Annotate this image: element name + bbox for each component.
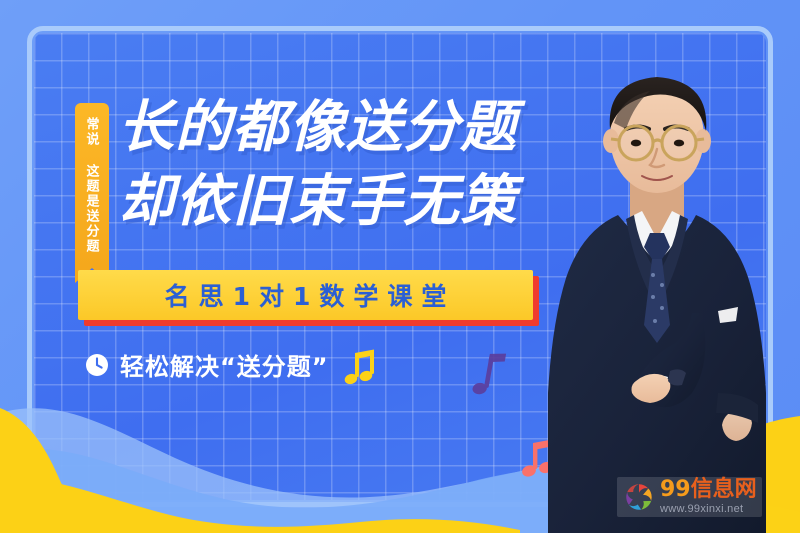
- watermark-name: 信息网: [691, 477, 757, 502]
- logo-icon: [622, 480, 656, 514]
- badge-label: 名思1对1数学课堂: [156, 277, 456, 313]
- subline-label: 轻松解决“送分题”: [120, 347, 329, 382]
- subline-block: 轻松解决“送分题”: [85, 347, 329, 382]
- watermark-text: 99信息网 www.99xinxi.net: [660, 479, 757, 515]
- course-badge: 名思1对1数学课堂: [78, 270, 533, 320]
- clock-icon: [85, 353, 109, 377]
- ribbon-label: 常说 这题是送分题: [86, 117, 99, 254]
- watermark-title: 99信息网: [660, 479, 757, 501]
- watermark: 99信息网 www.99xinxi.net: [617, 477, 762, 517]
- poster-canvas: 常说 这题是送分题 长的都像送分题 却依旧束手无策 名思1对1数学课堂 轻松解决…: [0, 0, 800, 533]
- side-ribbon: 常说 这题是送分题: [75, 103, 109, 268]
- headline-line-1: 长的都像送分题: [118, 100, 517, 156]
- watermark-url: www.99xinxi.net: [660, 504, 757, 515]
- badge-plate: 名思1对1数学课堂: [78, 270, 533, 320]
- headline-line-2: 却依旧束手无策: [118, 174, 517, 230]
- headline-block: 长的都像送分题 却依旧束手无策: [118, 100, 517, 248]
- watermark-number: 99: [660, 477, 691, 502]
